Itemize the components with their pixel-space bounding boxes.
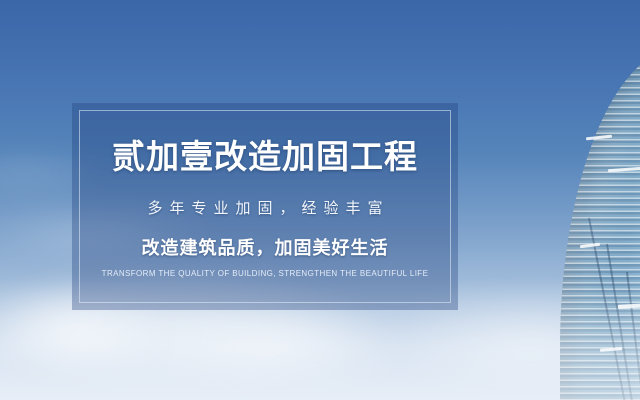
hero-subtitle: 多年专业加固，经验丰富 xyxy=(140,197,389,218)
hero-text-panel: 贰加壹改造加固工程 多年专业加固，经验丰富 改造建筑品质，加固美好生活 TRAN… xyxy=(72,103,458,310)
tower-glint-1 xyxy=(586,135,612,141)
tower-glint-5 xyxy=(600,347,622,352)
hero-title: 贰加壹改造加固工程 xyxy=(112,139,418,175)
skyscraper-building xyxy=(560,48,640,400)
banner-image: 贰加壹改造加固工程 多年专业加固，经验丰富 改造建筑品质，加固美好生活 TRAN… xyxy=(0,0,640,400)
tower-body xyxy=(560,48,640,400)
tower-mullion-b xyxy=(606,244,636,400)
hero-slogan-english: TRANSFORM THE QUALITY OF BUILDING, STREN… xyxy=(102,269,429,278)
tower-glint-4 xyxy=(618,303,640,309)
tower-glass-sheen xyxy=(560,48,640,400)
cloud-puff-mid xyxy=(150,300,410,386)
tower-glint-3 xyxy=(580,243,600,248)
tower-mullion-a xyxy=(588,218,628,400)
tower-facade-bands xyxy=(560,48,640,400)
tower-glint-2 xyxy=(608,167,640,172)
hero-slogan-chinese: 改造建筑品质，加固美好生活 xyxy=(142,234,389,260)
tower-mullion-c xyxy=(626,272,640,400)
hero-panel-border-frame: 贰加壹改造加固工程 多年专业加固，经验丰富 改造建筑品质，加固美好生活 TRAN… xyxy=(79,110,451,303)
